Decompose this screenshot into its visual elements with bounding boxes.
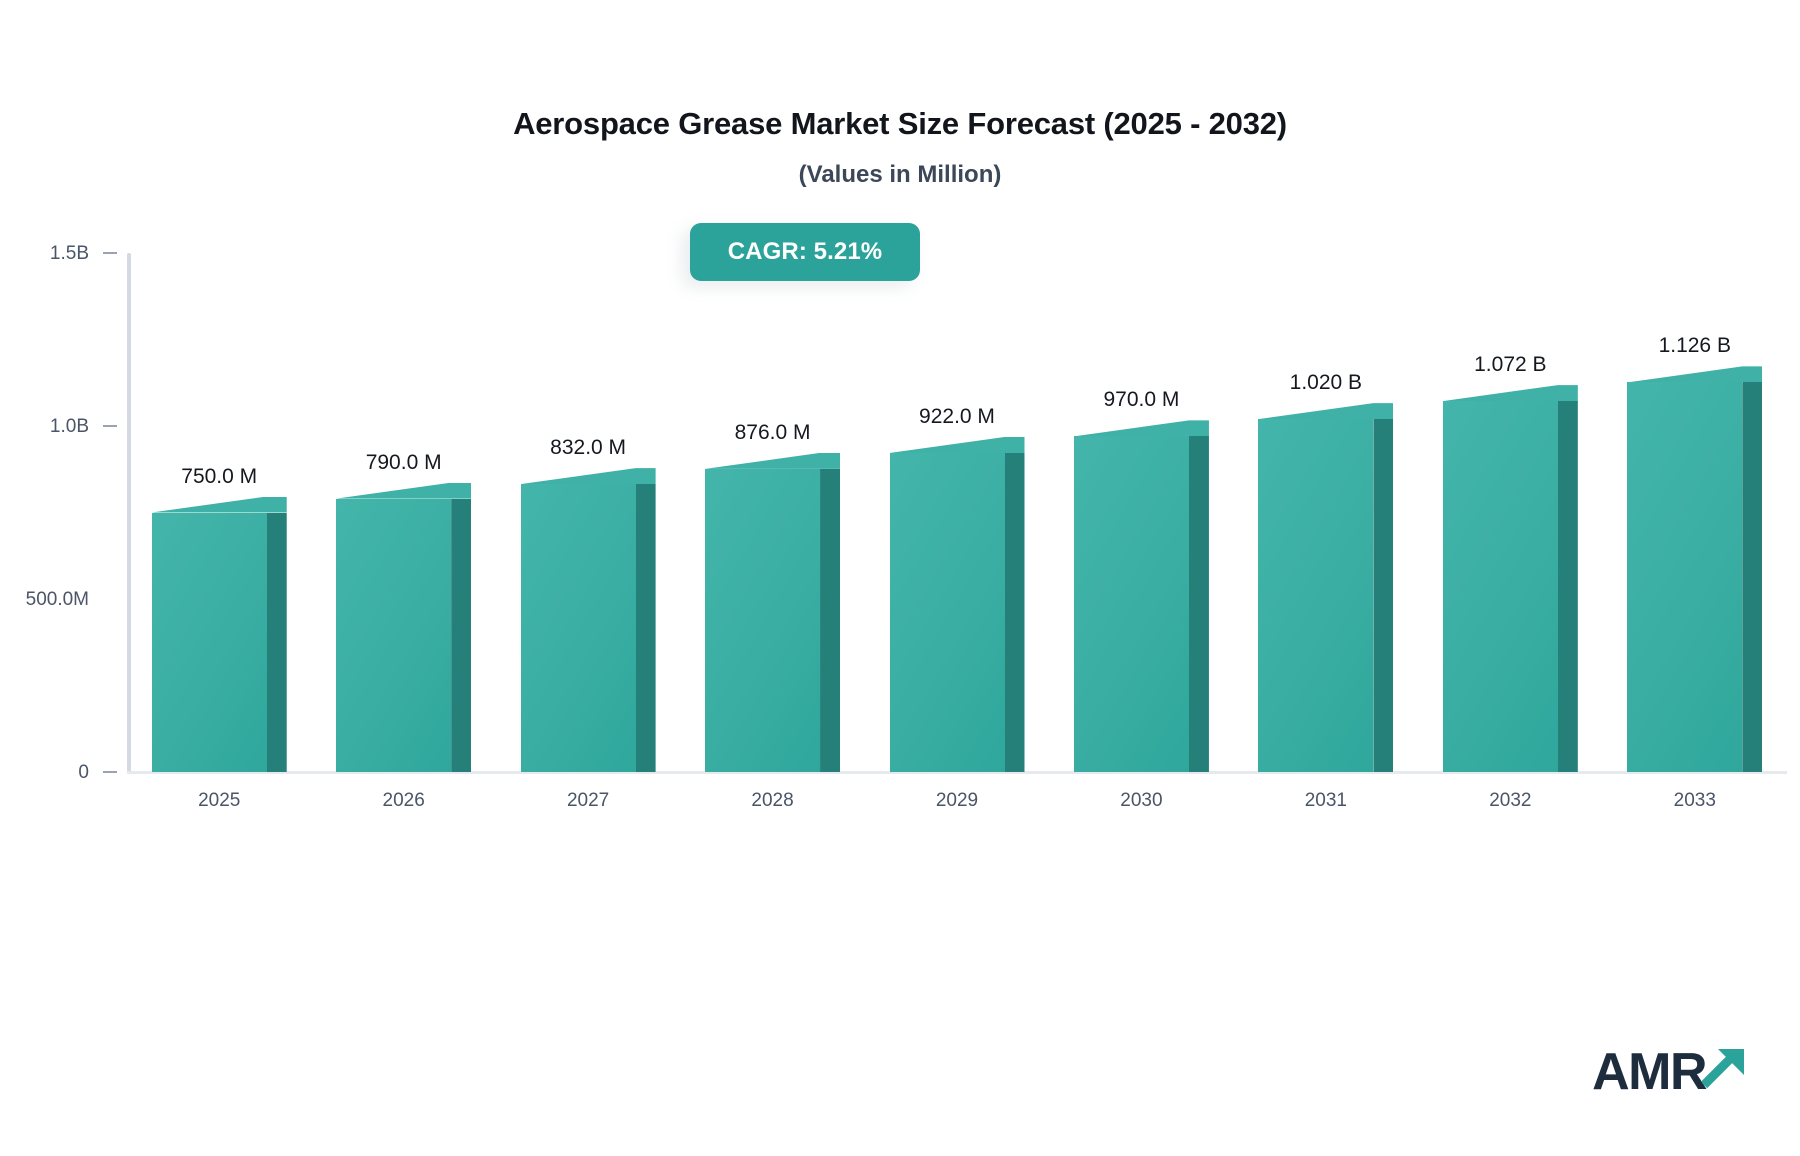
bar-side-face (1005, 453, 1025, 772)
bar-3d[interactable] (521, 484, 656, 772)
x-axis-tick-label: 2030 (1074, 791, 1209, 810)
bar-front-face (705, 469, 820, 772)
bar-column[interactable]: 1.072 B (1443, 253, 1578, 772)
bar-column[interactable]: 876.0 M (705, 253, 840, 772)
bar-top-face (336, 483, 471, 499)
bar-value-label: 1.126 B (1627, 335, 1762, 356)
bar-front-face (1074, 436, 1189, 772)
bar-front-face (890, 453, 1005, 772)
bar-side-face (1742, 382, 1762, 772)
bar-front-face (1627, 382, 1742, 772)
bar-column[interactable]: 790.0 M (336, 253, 471, 772)
bar-side-face (451, 499, 471, 772)
y-axis-tick-label: 0 (78, 763, 89, 782)
bar-top-face (1443, 385, 1578, 401)
bar-top-face (1258, 403, 1393, 419)
y-axis-tick-label: 1.5B (50, 244, 89, 263)
bar-front-face (152, 513, 267, 773)
bar-3d[interactable] (1074, 436, 1209, 772)
bar-top-face (1074, 420, 1209, 436)
bar-value-label: 876.0 M (705, 422, 840, 443)
bar-top-face (890, 437, 1025, 453)
bar-3d[interactable] (705, 469, 840, 772)
x-axis-tick-label: 2029 (890, 791, 1025, 810)
bar-front-face (1443, 401, 1558, 772)
bar-3d[interactable] (1443, 401, 1578, 772)
x-axis-tick-label: 2025 (152, 791, 287, 810)
bar-top-face (1627, 366, 1762, 382)
x-axis-tick-label: 2032 (1443, 791, 1578, 810)
y-axis-tick-label: 500.0M (26, 590, 89, 609)
bar-3d[interactable] (152, 513, 287, 773)
bar-column[interactable]: 1.020 B (1258, 253, 1393, 772)
y-axis-tick-dash (103, 771, 117, 773)
bar-column[interactable]: 970.0 M (1074, 253, 1209, 772)
x-axis-tick-label: 2033 (1627, 791, 1762, 810)
bar-column[interactable]: 750.0 M (152, 253, 287, 772)
x-axis-tick-label: 2031 (1258, 791, 1393, 810)
bar-column[interactable]: 832.0 M (521, 253, 656, 772)
x-axis-tick-label: 2028 (705, 791, 840, 810)
bar-side-face (636, 484, 656, 772)
bar-front-face (1258, 419, 1373, 772)
bar-side-face (267, 513, 287, 773)
y-axis-tick-label: 1.0B (50, 417, 89, 436)
bar-side-face (1558, 401, 1578, 772)
bar-front-face (336, 499, 451, 772)
bar-value-label: 1.020 B (1258, 372, 1393, 393)
bar-3d[interactable] (336, 499, 471, 772)
bar-top-face (152, 497, 287, 513)
x-axis-tick-label: 2027 (521, 791, 656, 810)
bar-side-face (1373, 419, 1393, 772)
bar-value-label: 1.072 B (1443, 354, 1578, 375)
bar-front-face (521, 484, 636, 772)
bar-3d[interactable] (890, 453, 1025, 772)
bar-top-face (521, 468, 656, 484)
amr-logo: AMR (1592, 1047, 1748, 1096)
x-axis-tick-label: 2026 (336, 791, 471, 810)
bar-3d[interactable] (1627, 382, 1762, 772)
bar-side-face (820, 469, 840, 772)
bar-value-label: 922.0 M (890, 406, 1025, 427)
chart-plot-area: 0500.0M1.0B1.5B 750.0 M790.0 M832.0 M876… (0, 0, 1800, 1156)
bar-column[interactable]: 1.126 B (1627, 253, 1762, 772)
trending-up-arrow-icon (1702, 1047, 1748, 1094)
y-axis-tick-dash (103, 252, 117, 254)
y-axis-tick-dash (103, 598, 117, 600)
bar-value-label: 970.0 M (1074, 389, 1209, 410)
bar-value-label: 750.0 M (152, 466, 287, 487)
y-axis-tick-dash (103, 425, 117, 427)
bar-value-label: 832.0 M (521, 437, 656, 458)
bar-column[interactable]: 922.0 M (890, 253, 1025, 772)
bar-side-face (1189, 436, 1209, 772)
bar-3d[interactable] (1258, 419, 1393, 772)
bar-top-face (705, 453, 840, 469)
bar-value-label: 790.0 M (336, 452, 471, 473)
amr-logo-text: AMR (1592, 1049, 1706, 1096)
bar-series: 750.0 M790.0 M832.0 M876.0 M922.0 M970.0… (127, 253, 1787, 772)
